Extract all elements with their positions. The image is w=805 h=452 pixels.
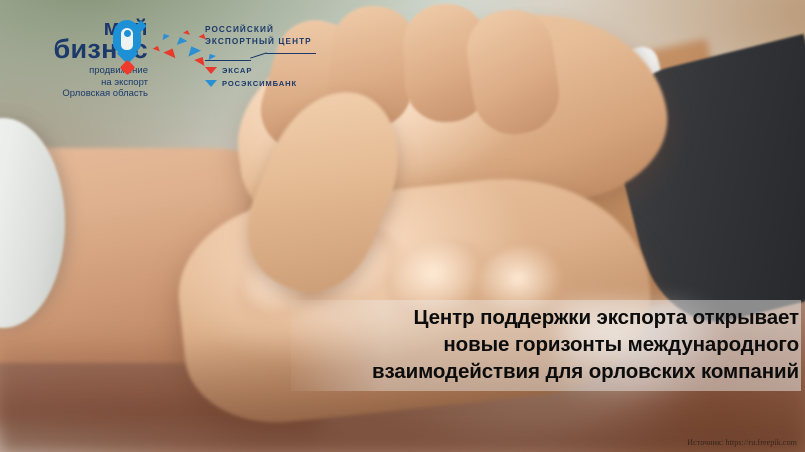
caption-line-2: новые горизонты международного <box>301 331 799 358</box>
location-pin-rocket-icon <box>110 20 144 76</box>
pin-dot <box>124 30 131 37</box>
source-attribution: Источник: https://ru.freepik.com <box>687 438 797 447</box>
rec-title-line2: ЭКСПОРТНЫЙ ЦЕНТР <box>205 36 317 48</box>
my-business-tagline-line2: на экспорт <box>18 77 148 89</box>
caption-overlay: Центр поддержки экспорта открывает новые… <box>291 300 801 391</box>
flame-icon <box>120 60 136 76</box>
caption-line-3: взаимодействия для орловских компаний <box>301 358 799 385</box>
slide-image: мой бизнес продвижение на экспорт Орловс… <box>0 0 805 452</box>
rec-sub-roseximbank: РОСЭКСИМБАНК <box>205 79 317 88</box>
logo-bar: мой бизнес продвижение на экспорт Орловс… <box>0 0 330 110</box>
rec-divider <box>205 53 317 62</box>
exiar-label: ЭКСАР <box>222 66 252 75</box>
roseximbank-arrow-icon <box>205 80 217 87</box>
roseximbank-label: РОСЭКСИМБАНК <box>222 79 297 88</box>
triangle-flock-icon <box>150 26 212 74</box>
caption-line-1: Центр поддержки экспорта открывает <box>301 304 799 331</box>
rec-title-line1: РОССИЙСКИЙ <box>205 24 317 36</box>
exiar-arrow-icon <box>205 67 217 74</box>
rec-logo: РОССИЙСКИЙ ЭКСПОРТНЫЙ ЦЕНТР ЭКСАР РОСЭКС… <box>205 24 317 88</box>
rec-sub-exiar: ЭКСАР <box>205 66 317 75</box>
my-business-region: Орловская область <box>18 88 148 100</box>
